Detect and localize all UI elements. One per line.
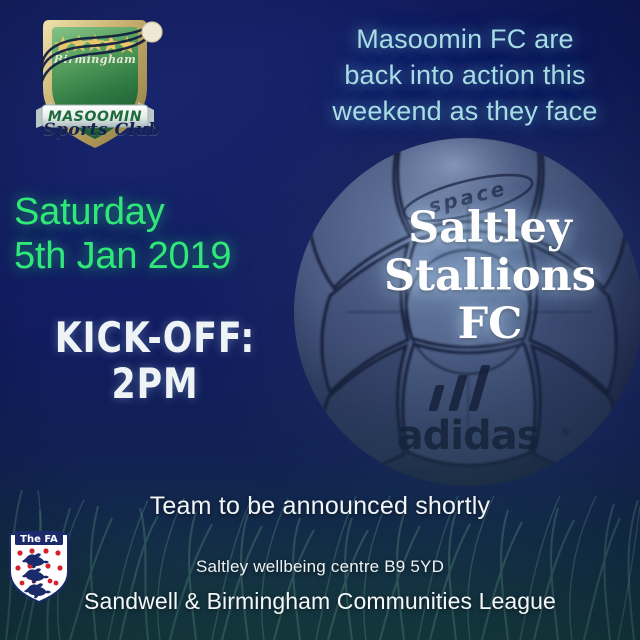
- kick-off-time: 2PM: [22, 360, 289, 408]
- kick-off-block: KICK-OFF: 2PM: [10, 316, 300, 408]
- opponent-line-1: Saltley: [350, 204, 630, 252]
- the-fa-crest-icon: The FA: [6, 528, 72, 604]
- masoomin-sports-club-crest-icon: Birmingham MASOOMIN: [22, 6, 182, 166]
- venue-text: Saltley wellbeing centre B9 5YD: [0, 557, 640, 577]
- opponent-line-3: FC: [350, 300, 630, 348]
- fa-banner-text: The FA: [20, 534, 58, 545]
- league-name: Sandwell & Birmingham Communities League: [0, 588, 640, 615]
- headline: Masoomin FC are back into action this we…: [300, 22, 630, 130]
- kick-off-label: KICK-OFF:: [22, 316, 289, 360]
- match-date-value: 5th Jan 2019: [14, 234, 314, 278]
- opponent-line-2: Stallions: [350, 252, 630, 300]
- match-day: Saturday: [14, 191, 165, 233]
- headline-line-3: weekend as they face: [300, 94, 630, 130]
- team-announcement: Team to be announced shortly: [0, 492, 640, 521]
- match-announcement-poster: space adidas ®: [0, 0, 640, 640]
- headline-line-1: Masoomin FC are: [300, 22, 630, 58]
- crest-caption: Sports Club: [22, 120, 182, 140]
- headline-line-2: back into action this: [300, 58, 630, 94]
- opponent-name: Saltley Stallions FC: [350, 204, 630, 348]
- match-date: Saturday 5th Jan 2019: [14, 190, 314, 278]
